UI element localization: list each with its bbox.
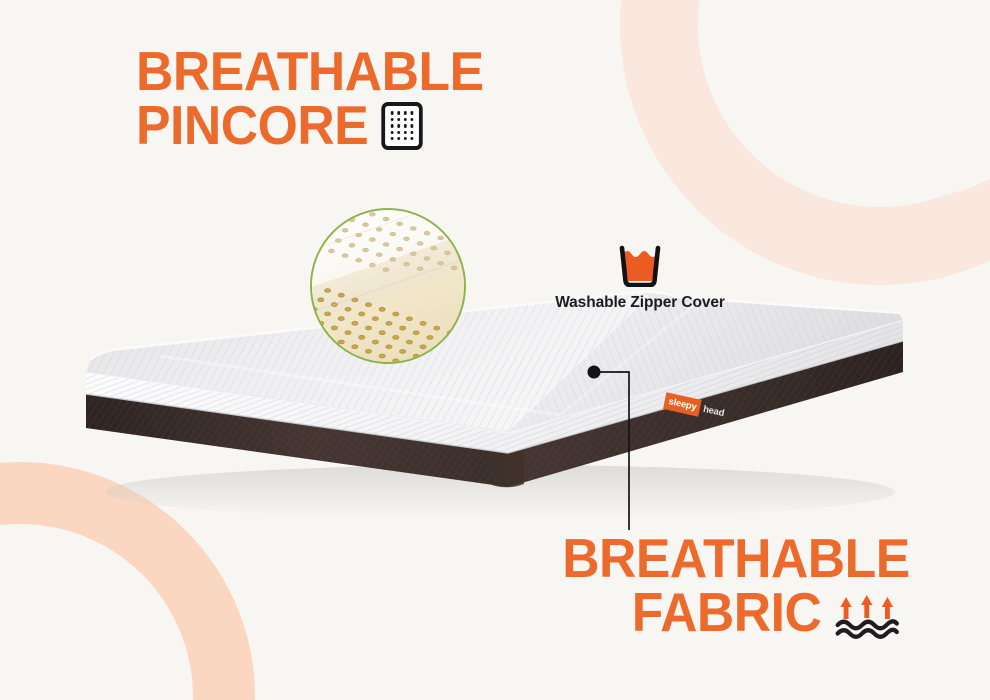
pincore-dot (404, 137, 407, 140)
pincore-dot (397, 124, 400, 127)
pincore-dot (391, 124, 394, 127)
washable-zipper-cover-label: Washable Zipper Cover (555, 294, 725, 312)
headline-breathable-fabric: BREATHABLE FABRIC (562, 532, 910, 640)
pincore-dot (410, 137, 413, 140)
pincore-dot (410, 131, 413, 134)
wash-tub-icon (614, 243, 666, 287)
pincore-dot (410, 111, 413, 114)
pincore-dot (397, 137, 400, 140)
airflow-arrows (840, 595, 893, 619)
pincore-dot (391, 111, 394, 114)
pincore-dot (410, 118, 413, 121)
pincore-dot (410, 124, 413, 127)
headline-bottom-line2: FABRIC (632, 586, 822, 640)
headline-top-line1: BREATHABLE (136, 45, 484, 99)
pincore-dot (391, 137, 394, 140)
headline-bottom-line1: BREATHABLE (562, 532, 910, 586)
wave-lines (838, 621, 897, 636)
marketing-banner: sleepy head Washable Zipper Cover BREATH… (0, 0, 990, 700)
headline-breathable-pincore: BREATHABLE PINCORE (136, 45, 484, 153)
pincore-dot (391, 131, 394, 134)
washable-zipper-cover-callout: Washable Zipper Cover (538, 243, 742, 312)
pincore-dot (397, 111, 400, 114)
pincore-grid-icon (381, 102, 422, 150)
headline-top-line2: PINCORE (136, 99, 368, 153)
pincore-dot (404, 131, 407, 134)
pincore-dot (404, 118, 407, 121)
pincore-dot (397, 131, 400, 134)
pincore-dot (404, 124, 407, 127)
pincore-dot (397, 118, 400, 121)
pincore-dot (404, 111, 407, 114)
airflow-waves-icon (835, 587, 910, 639)
pincore-dot (391, 118, 394, 121)
